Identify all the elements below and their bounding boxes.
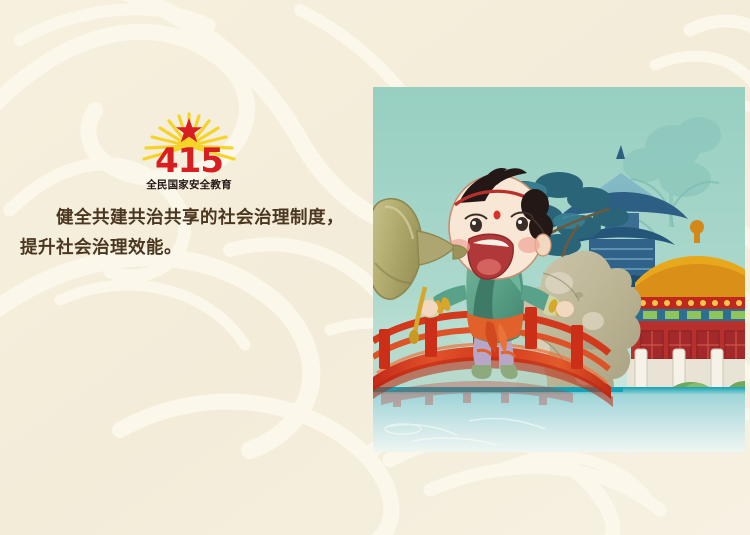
poster-canvas: 415 全民国家安全教育 健全共建共治共享的社会治理制度， 提升社会治理效能。 — [0, 0, 750, 535]
slogan-text: 健全共建共治共享的社会治理制度， 提升社会治理效能。 — [20, 203, 350, 263]
slogan-line-2: 提升社会治理效能。 — [20, 233, 350, 263]
415-logo-graphic: 415 全民国家安全教育 — [135, 112, 243, 192]
illustration-panel — [373, 87, 745, 452]
415-logo: 415 全民国家安全教育 — [135, 112, 243, 192]
illustration-artwork — [373, 87, 745, 452]
slogan-line-1: 健全共建共治共享的社会治理制度， — [20, 203, 350, 233]
logo-number: 415 — [155, 141, 223, 181]
logo-subtitle: 全民国家安全教育 — [145, 178, 232, 191]
